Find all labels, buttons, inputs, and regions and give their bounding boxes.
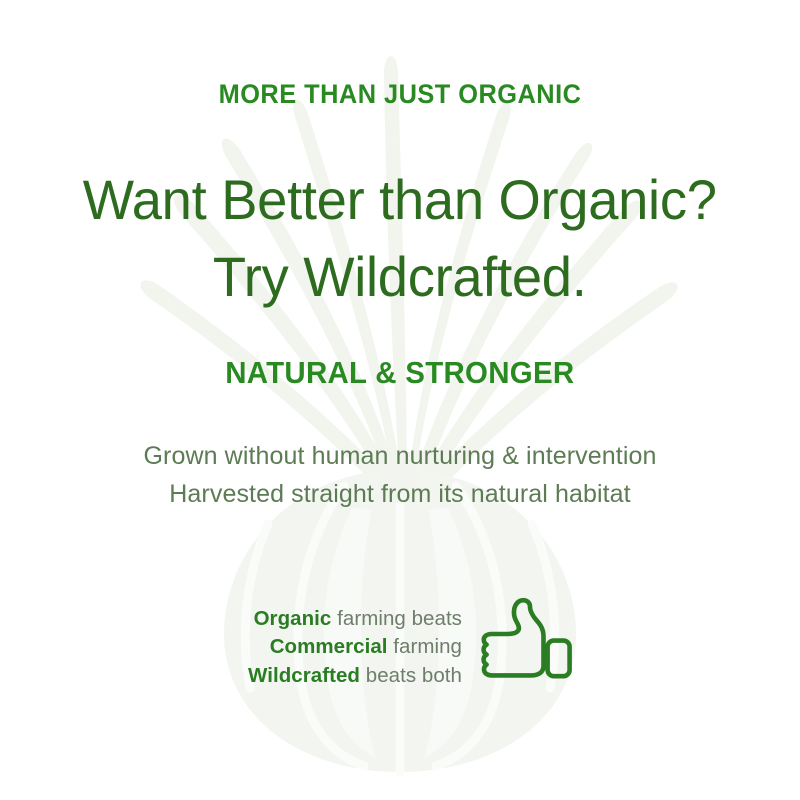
comparison-rest-1: farming beats xyxy=(331,607,462,630)
thumbs-up-icon xyxy=(474,596,578,700)
body-line-1: Grown without human nurturing & interven… xyxy=(143,437,656,476)
body-copy: Grown without human nurturing & interven… xyxy=(143,437,656,514)
comparison-rest-3: beats both xyxy=(360,664,462,687)
sub-heading: NATURAL & STRONGER xyxy=(225,357,574,388)
comparison-line-3: Wildcrafted beats both xyxy=(248,662,462,690)
headline-line-2: Try Wildcrafted. xyxy=(83,238,717,315)
comparison-keyword-organic: Organic xyxy=(254,607,332,630)
comparison-text: Organic farming beats Commercial farming… xyxy=(248,605,462,690)
page-title: Want Better than Organic? Try Wildcrafte… xyxy=(83,161,717,316)
poster-content: MORE THAN JUST ORGANIC Want Better than … xyxy=(0,0,800,800)
headline-line-1: Want Better than Organic? xyxy=(83,161,717,238)
eyebrow-heading: MORE THAN JUST ORGANIC xyxy=(219,81,582,108)
comparison-block: Organic farming beats Commercial farming… xyxy=(222,596,578,700)
comparison-keyword-wildcrafted: Wildcrafted xyxy=(248,664,360,687)
comparison-keyword-commercial: Commercial xyxy=(270,635,388,658)
body-line-2: Harvested straight from its natural habi… xyxy=(143,475,656,514)
poster-canvas: MORE THAN JUST ORGANIC Want Better than … xyxy=(0,0,800,800)
comparison-rest-2: farming xyxy=(388,635,462,658)
comparison-line-2: Commercial farming xyxy=(248,633,462,661)
comparison-line-1: Organic farming beats xyxy=(248,605,462,633)
